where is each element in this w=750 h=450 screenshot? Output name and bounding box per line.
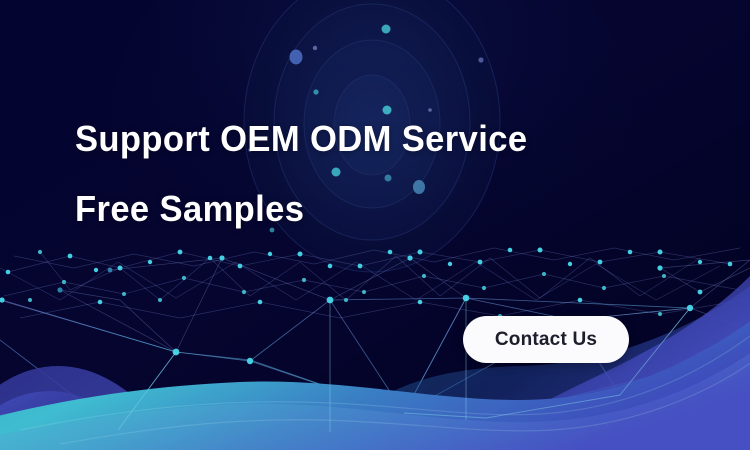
headline-line-2: Free Samples <box>75 174 527 244</box>
headline-block: Support OEM ODM Service Free Samples <box>75 104 546 244</box>
headline-line-1: Support OEM ODM Service <box>75 104 527 174</box>
contact-us-button[interactable]: Contact Us <box>463 316 629 363</box>
promo-banner: .ml { stroke: url(#lineGrad); stroke-wid… <box>0 0 750 450</box>
